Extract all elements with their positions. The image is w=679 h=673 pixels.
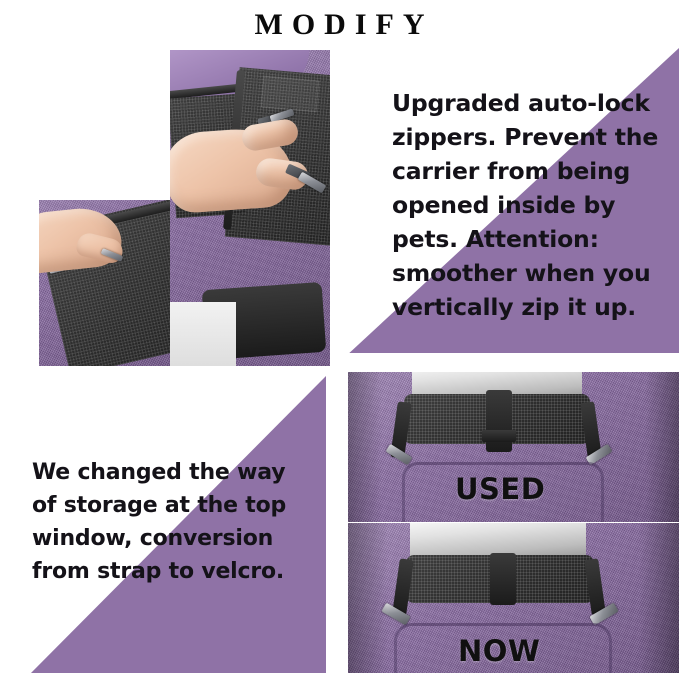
photo-shadow-left bbox=[348, 372, 382, 522]
velcro-tab bbox=[490, 553, 516, 605]
photo-shadow-right bbox=[639, 523, 679, 673]
photo-label-used: USED bbox=[455, 472, 545, 506]
photo-hand-opening-mesh-zipper bbox=[170, 50, 330, 366]
page-title: MODIFY bbox=[0, 6, 679, 44]
photo-hand-pulling-zipper bbox=[25, 178, 173, 366]
photo-margin-left bbox=[25, 178, 39, 366]
photo-floor bbox=[170, 302, 236, 366]
product-infographic: MODIFY bbox=[0, 0, 679, 673]
photo-shadow-left bbox=[348, 523, 388, 673]
copy-upgraded-zippers: Upgraded auto-lock zippers. Prevent the … bbox=[392, 86, 660, 324]
retention-strap bbox=[486, 390, 512, 452]
photo-label-now: NOW bbox=[458, 634, 540, 668]
photo-shadow-right bbox=[645, 372, 679, 522]
copy-storage-change: We changed the way of storage at the top… bbox=[32, 456, 312, 588]
retention-strap-buckle bbox=[482, 430, 516, 442]
mesh-pocket-seam bbox=[261, 76, 320, 113]
photo-margin-top bbox=[25, 178, 173, 200]
top-window-panel bbox=[410, 523, 586, 557]
